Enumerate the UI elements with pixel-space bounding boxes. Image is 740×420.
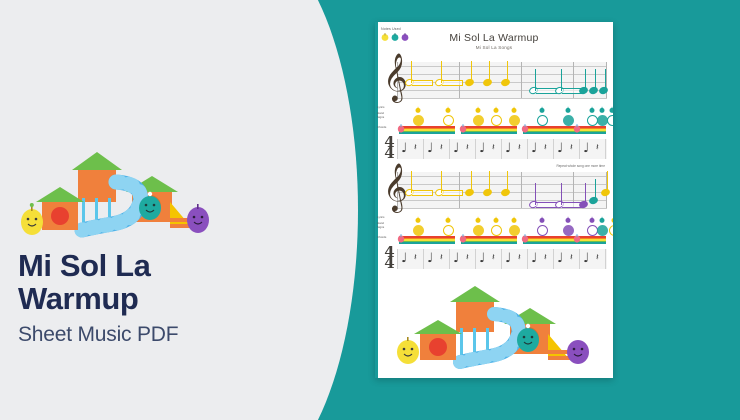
mi-character-yellow — [397, 337, 419, 364]
rhythm-divider — [475, 139, 476, 159]
staff-system-1[interactable]: 𝄞 Lyrics Hand Signs Chords 4 4 ♩♩𝄽𝄽♩♩𝄽𝄽♩… — [383, 60, 607, 161]
rhythm-quarter-note: ♩ — [583, 142, 589, 155]
staff-1: 𝄞 — [383, 60, 607, 106]
hand-sign-mi — [509, 225, 520, 236]
rhythm-divider — [501, 249, 502, 269]
hand-sign-mi — [413, 115, 424, 126]
hand-sign-sol — [597, 225, 608, 236]
rhythm-quarter-rest: 𝄽 — [440, 252, 443, 265]
hand-sign-mi — [413, 225, 424, 236]
time-signature-1: 4 4 — [383, 137, 396, 159]
rhythm-quarter-note: ♩ — [401, 252, 407, 265]
rhythm-quarter-note: ♩ — [557, 142, 563, 155]
rhythm-divider — [423, 249, 424, 269]
chord-stripe — [461, 242, 517, 244]
chord-bar — [461, 236, 517, 244]
screenshot-canvas: Mi Sol La Warmup Sheet Music PDF Notes U… — [0, 0, 740, 420]
brand-title-line-1: Mi Sol La — [18, 250, 268, 283]
rhythm-quarter-rest: 𝄽 — [518, 142, 521, 155]
document-title: Mi Sol La Warmup — [375, 32, 613, 44]
rhythm-divider — [449, 249, 450, 269]
playground-illustration-svg — [389, 284, 599, 370]
rhythm-divider — [579, 139, 580, 159]
chords-row-1 — [383, 126, 607, 136]
note-duration-bar — [412, 190, 433, 196]
repeat-instruction: Repeat whole song one more time — [556, 164, 605, 168]
chord-stripe — [399, 242, 455, 244]
rhythm-quarter-rest: 𝄽 — [596, 142, 599, 155]
note-duration-bar — [442, 80, 463, 86]
lyric-icon-sol — [609, 106, 613, 112]
hand-sign-la — [537, 225, 548, 236]
rhythm-quarter-rest: 𝄽 — [570, 252, 573, 265]
lyric-icon-mi — [511, 106, 517, 112]
brand-title-line-2: Warmup — [18, 283, 268, 316]
brand-block: Mi Sol La Warmup Sheet Music PDF — [18, 140, 268, 347]
rhythm-divider — [475, 249, 476, 269]
rhythm-divider — [423, 139, 424, 159]
rhythm-divider — [527, 139, 528, 159]
chord-marker-icon — [459, 124, 467, 133]
chord-stripe — [461, 132, 517, 134]
hand-sign-mi — [473, 115, 484, 126]
rhythm-divider — [553, 249, 554, 269]
chord-bar — [399, 126, 455, 134]
hand-sign-mi — [443, 115, 454, 126]
chord-marker-icon — [459, 234, 467, 243]
rhythm-divider — [397, 139, 398, 159]
note-stem — [585, 69, 586, 91]
chord-stripe — [399, 132, 455, 134]
lyric-icon-mi — [611, 216, 613, 222]
note-stem — [595, 179, 596, 201]
note-stem — [507, 171, 508, 193]
sheet-music-page-preview[interactable]: Notes Used Mi Sol La Warmup Mi Sol La So… — [375, 22, 613, 378]
rhythm-divider — [449, 139, 450, 159]
lyric-icon-sol — [589, 106, 595, 112]
notehead — [600, 188, 611, 197]
rhythm-divider — [605, 139, 606, 159]
document-subtitle: Mi Sol La Songs — [375, 45, 613, 50]
chord-marker-icon — [573, 234, 581, 243]
notehead — [598, 86, 609, 95]
chord-marker-icon — [521, 234, 529, 243]
time-signature-bottom: 4 — [383, 258, 396, 269]
note-duration-bar — [412, 80, 433, 86]
lyric-icon-mi — [475, 106, 481, 112]
rhythm-row-1: 4 4 ♩♩𝄽𝄽♩♩𝄽𝄽♩♩𝄽𝄽♩♩𝄽𝄽 — [383, 137, 607, 161]
playground-illustration-svg — [20, 140, 220, 240]
rhythm-quarter-note: ♩ — [505, 142, 511, 155]
rhythm-divider — [527, 249, 528, 269]
lyric-icon-sol — [565, 106, 571, 112]
note-stem — [507, 61, 508, 83]
note-stem — [585, 183, 586, 205]
staff-2: 𝄞 — [383, 170, 607, 216]
hand-sign-sol — [607, 115, 613, 126]
rhythm-row-2: 4 4 ♩♩𝄽𝄽♩♩𝄽𝄽♩♩𝄽𝄽♩♩𝄽𝄽 — [383, 247, 607, 271]
note-stem — [471, 61, 472, 83]
rhythm-quarter-note: ♩ — [505, 252, 511, 265]
lyric-icon-sol — [599, 106, 605, 112]
time-signature-2: 4 4 — [383, 247, 396, 269]
rhythm-quarter-note: ♩ — [531, 142, 537, 155]
rhythm-quarter-rest: 𝄽 — [466, 142, 469, 155]
lyric-icon-mi — [475, 216, 481, 222]
hand-sign-mi — [609, 225, 613, 236]
rhythm-quarter-rest: 𝄽 — [544, 142, 547, 155]
teal-panel-curve — [270, 0, 358, 420]
chord-bar — [461, 126, 517, 134]
hand-sign-mi — [443, 225, 454, 236]
chord-bar — [399, 236, 455, 244]
brand-subtitle: Sheet Music PDF — [18, 323, 268, 347]
rhythm-quarter-rest: 𝄽 — [466, 252, 469, 265]
rhythm-divider — [501, 139, 502, 159]
rhythm-quarter-note: ♩ — [531, 252, 537, 265]
chord-bar — [523, 126, 579, 134]
chord-stripe — [523, 132, 579, 134]
rhythm-quarter-note: ♩ — [453, 252, 459, 265]
note-stem — [489, 61, 490, 83]
rhythm-quarter-rest: 𝄽 — [492, 252, 495, 265]
time-signature-bottom: 4 — [383, 148, 396, 159]
note-stem — [605, 69, 606, 91]
rhythm-quarter-note: ♩ — [557, 252, 563, 265]
hand-sign-sol — [537, 115, 548, 126]
hand-sign-mi — [473, 225, 484, 236]
rhythm-divider — [579, 249, 580, 269]
lyric-icon-mi — [415, 216, 421, 222]
lyric-icon-mi — [415, 106, 421, 112]
lyrics-row-1 — [383, 105, 607, 114]
note-stem — [489, 171, 490, 193]
rhythm-quarter-rest: 𝄽 — [544, 252, 547, 265]
lyric-icon-la — [539, 216, 545, 222]
rhythm-quarter-rest: 𝄽 — [492, 142, 495, 155]
lyric-icon-la — [565, 216, 571, 222]
rhythm-quarter-rest: 𝄽 — [570, 142, 573, 155]
rhythm-quarter-note: ♩ — [427, 142, 433, 155]
hand-sign-mi — [509, 115, 520, 126]
rhythm-quarter-rest: 𝄽 — [440, 142, 443, 155]
chord-marker-icon — [521, 124, 529, 133]
lyric-icon-mi — [445, 216, 451, 222]
rhythm-quarter-note: ♩ — [427, 252, 433, 265]
rhythm-divider — [397, 249, 398, 269]
playground-illustration-left — [20, 140, 220, 240]
rhythm-quarter-rest: 𝄽 — [596, 252, 599, 265]
rhythm-divider — [553, 139, 554, 159]
rhythm-quarter-note: ♩ — [583, 252, 589, 265]
rhythm-divider — [605, 249, 606, 269]
rhythm-quarter-note: ♩ — [401, 142, 407, 155]
lyric-icon-mi — [511, 216, 517, 222]
lyric-icon-mi — [493, 216, 499, 222]
lyrics-row-2 — [383, 215, 607, 224]
chord-marker-icon — [397, 234, 405, 243]
note-stem — [595, 69, 596, 91]
page-spine-accent — [375, 22, 378, 378]
note-stem — [607, 171, 608, 193]
la-character-purple — [567, 340, 589, 364]
chord-marker-icon — [397, 124, 405, 133]
notes-used-label: Notes Used — [381, 27, 409, 31]
rhythm-quarter-note: ♩ — [479, 142, 485, 155]
lyric-icon-la — [589, 216, 595, 222]
lyric-icon-sol — [599, 216, 605, 222]
lyric-icon-mi — [445, 106, 451, 112]
rhythm-quarter-rest: 𝄽 — [414, 142, 417, 155]
lyric-icon-sol — [539, 106, 545, 112]
chord-stripe — [523, 242, 579, 244]
rhythm-quarter-note: ♩ — [453, 142, 459, 155]
treble-clef-icon: 𝄞 — [383, 166, 408, 208]
lyric-icon-mi — [493, 106, 499, 112]
page-title: Mi Sol La Warmup — [18, 250, 268, 316]
chord-marker-icon — [573, 124, 581, 133]
rhythm-quarter-rest: 𝄽 — [518, 252, 521, 265]
rhythm-quarter-note: ♩ — [479, 252, 485, 265]
rhythm-quarter-rest: 𝄽 — [414, 252, 417, 265]
la-character-purple — [187, 204, 209, 233]
hand-sign-mi — [491, 225, 502, 236]
chords-row-2 — [383, 236, 607, 246]
mi-character-yellow — [21, 203, 43, 235]
note-duration-bar — [442, 190, 463, 196]
chord-bar — [523, 236, 579, 244]
staff-system-2[interactable]: Repeat whole song one more time 𝄞 Lyrics… — [383, 170, 607, 271]
playground-illustration-page — [389, 284, 599, 370]
hand-sign-mi — [491, 115, 502, 126]
note-stem — [471, 171, 472, 193]
treble-clef-icon: 𝄞 — [383, 56, 408, 98]
